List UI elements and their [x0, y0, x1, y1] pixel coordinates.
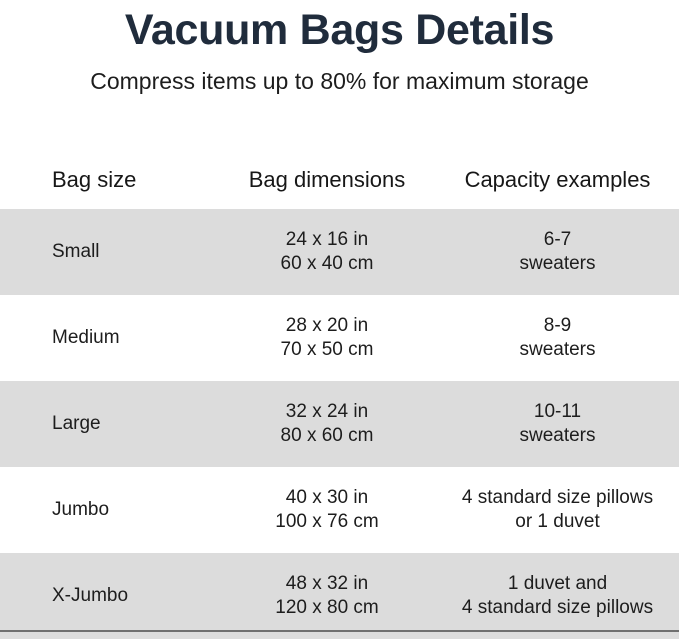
- cell-bag-size: Large: [0, 381, 218, 467]
- capacity-line-1: 6-7: [436, 228, 679, 252]
- cell-bag-size: Small: [0, 209, 218, 295]
- table-body: Small 24 x 16 in 60 x 40 cm 6-7 sweaters…: [0, 209, 679, 639]
- capacity-line-2: or 1 duvet: [436, 510, 679, 534]
- dimensions-centimeters: 70 x 50 cm: [218, 338, 436, 362]
- cell-capacity-examples: 8-9 sweaters: [436, 295, 679, 381]
- column-header-bag-dimensions: Bag dimensions: [218, 150, 436, 209]
- dimensions-inches: 24 x 16 in: [218, 228, 436, 252]
- table-row: Small 24 x 16 in 60 x 40 cm 6-7 sweaters: [0, 209, 679, 295]
- cell-capacity-examples: 6-7 sweaters: [436, 209, 679, 295]
- cell-bag-dimensions: 32 x 24 in 80 x 60 cm: [218, 381, 436, 467]
- vacuum-bags-details-page: Vacuum Bags Details Compress items up to…: [0, 0, 679, 639]
- capacity-line-1: 4 standard size pillows: [436, 486, 679, 510]
- header-block: Vacuum Bags Details Compress items up to…: [0, 0, 679, 96]
- table-row: Large 32 x 24 in 80 x 60 cm 10-11 sweate…: [0, 381, 679, 467]
- capacity-line-2: 4 standard size pillows: [436, 596, 679, 620]
- cell-bag-size: Jumbo: [0, 467, 218, 553]
- capacity-line-1: 8-9: [436, 314, 679, 338]
- dimensions-inches: 28 x 20 in: [218, 314, 436, 338]
- dimensions-inches: 40 x 30 in: [218, 486, 436, 510]
- capacity-line-1: 10-11: [436, 400, 679, 424]
- table-row: Medium 28 x 20 in 70 x 50 cm 8-9 sweater…: [0, 295, 679, 381]
- dimensions-inches: 32 x 24 in: [218, 400, 436, 424]
- cell-bag-dimensions: 24 x 16 in 60 x 40 cm: [218, 209, 436, 295]
- capacity-line-1: 1 duvet and: [436, 572, 679, 596]
- bottom-divider: [0, 630, 679, 632]
- dimensions-inches: 48 x 32 in: [218, 572, 436, 596]
- capacity-line-2: sweaters: [436, 252, 679, 276]
- capacity-line-2: sweaters: [436, 424, 679, 448]
- dimensions-centimeters: 80 x 60 cm: [218, 424, 436, 448]
- dimensions-centimeters: 100 x 76 cm: [218, 510, 436, 534]
- cell-bag-size: Medium: [0, 295, 218, 381]
- cell-bag-dimensions: 28 x 20 in 70 x 50 cm: [218, 295, 436, 381]
- dimensions-centimeters: 60 x 40 cm: [218, 252, 436, 276]
- bag-specifications-table: Bag size Bag dimensions Capacity example…: [0, 150, 679, 639]
- table-header-row: Bag size Bag dimensions Capacity example…: [0, 150, 679, 209]
- cell-capacity-examples: 10-11 sweaters: [436, 381, 679, 467]
- cell-bag-dimensions: 40 x 30 in 100 x 76 cm: [218, 467, 436, 553]
- cell-bag-dimensions: 48 x 32 in 120 x 80 cm: [218, 553, 436, 639]
- page-subtitle: Compress items up to 80% for maximum sto…: [0, 66, 679, 96]
- table-row: Jumbo 40 x 30 in 100 x 76 cm 4 standard …: [0, 467, 679, 553]
- page-title: Vacuum Bags Details: [0, 4, 679, 56]
- table-header: Bag size Bag dimensions Capacity example…: [0, 150, 679, 209]
- cell-capacity-examples: 4 standard size pillows or 1 duvet: [436, 467, 679, 553]
- capacity-line-2: sweaters: [436, 338, 679, 362]
- table-row: X-Jumbo 48 x 32 in 120 x 80 cm 1 duvet a…: [0, 553, 679, 639]
- dimensions-centimeters: 120 x 80 cm: [218, 596, 436, 620]
- cell-capacity-examples: 1 duvet and 4 standard size pillows: [436, 553, 679, 639]
- column-header-bag-size: Bag size: [0, 150, 218, 209]
- column-header-capacity-examples: Capacity examples: [436, 150, 679, 209]
- cell-bag-size: X-Jumbo: [0, 553, 218, 639]
